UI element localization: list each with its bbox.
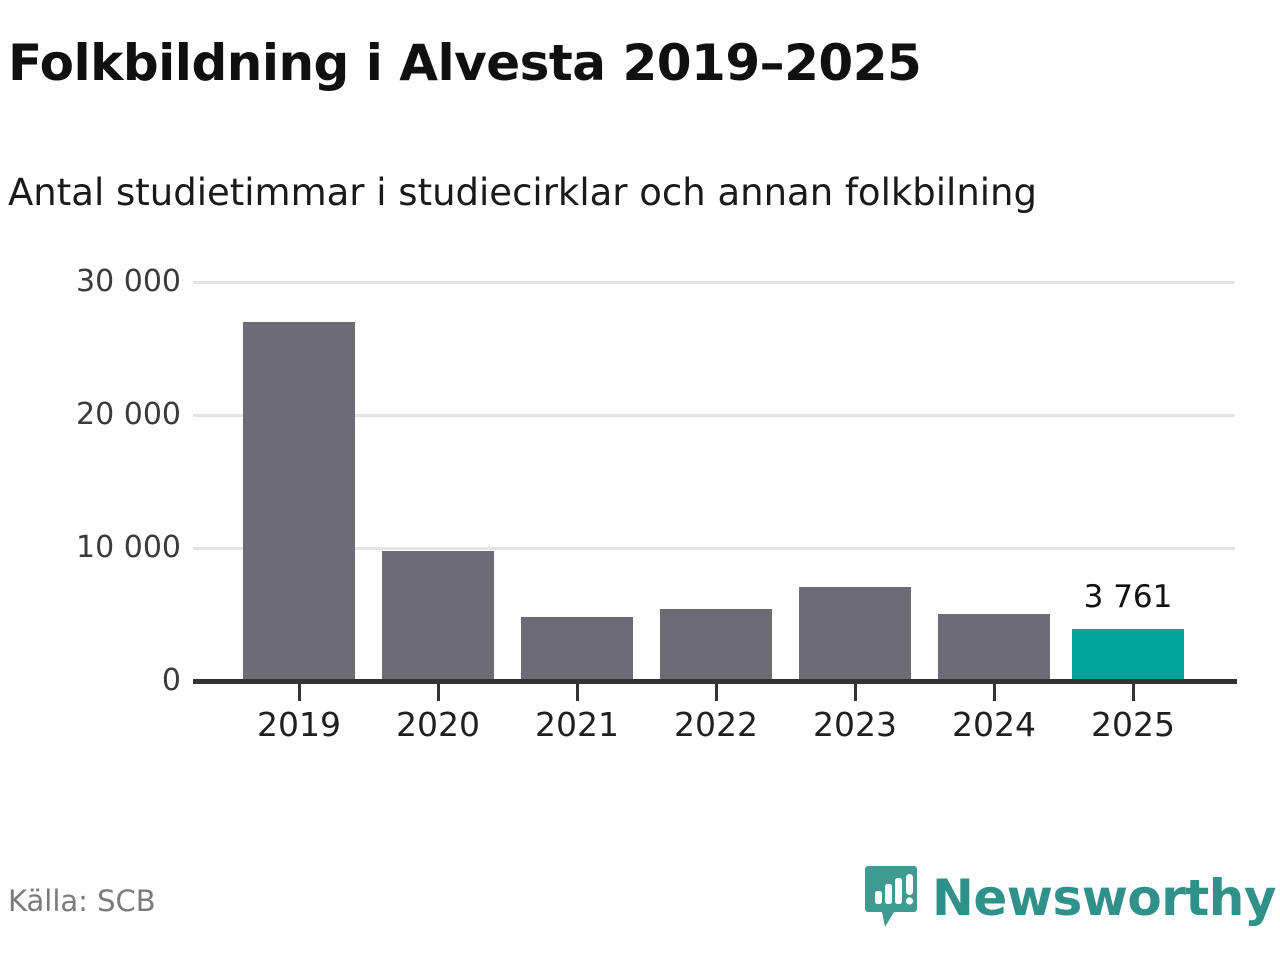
- bar-2023[interactable]: [799, 587, 911, 681]
- xtick-label-2019: 2019: [230, 706, 368, 744]
- logo-wordmark: Newsworthy: [932, 871, 1276, 925]
- bar-2024[interactable]: [938, 614, 1050, 681]
- bar-2020[interactable]: [382, 551, 494, 681]
- xtick-mark-2025: [1132, 684, 1135, 701]
- newsworthy-logo[interactable]: Newsworthy: [864, 862, 1276, 934]
- ytick-label-30000: 30 000: [0, 267, 181, 297]
- xtick-label-2022: 2022: [647, 706, 785, 744]
- ytick-label-10000: 10 000: [0, 533, 181, 563]
- xtick-mark-2019: [298, 684, 301, 701]
- ytick-label-20000: 20 000: [0, 400, 181, 430]
- bar-chart-plot: 30 000 20 000 10 000 0 3 761 2019 2020 2…: [0, 0, 1280, 960]
- xtick-mark-2021: [576, 684, 579, 701]
- bar-2021[interactable]: [521, 617, 633, 681]
- bar-2019[interactable]: [243, 322, 355, 681]
- ytick-label-0: 0: [0, 666, 181, 696]
- newsworthy-bubble-chart-icon: [864, 865, 918, 931]
- xtick-label-2021: 2021: [508, 706, 646, 744]
- xtick-label-2020: 2020: [369, 706, 507, 744]
- xtick-label-2023: 2023: [786, 706, 924, 744]
- xtick-label-2025: 2025: [1064, 706, 1202, 744]
- bar-2025[interactable]: [1072, 629, 1184, 681]
- bar-value-label-2025: 3 761: [1072, 582, 1184, 613]
- xtick-label-2024: 2024: [925, 706, 1063, 744]
- xtick-mark-2024: [993, 684, 996, 701]
- xtick-mark-2022: [715, 684, 718, 701]
- xtick-mark-2023: [854, 684, 857, 701]
- xtick-mark-2020: [437, 684, 440, 701]
- source-note: Källa: SCB: [8, 884, 156, 918]
- chart-card: Folkbildning i Alvesta 2019–2025 Antal s…: [0, 0, 1280, 960]
- gridline-30000: [193, 281, 1235, 284]
- bar-2022[interactable]: [660, 609, 772, 681]
